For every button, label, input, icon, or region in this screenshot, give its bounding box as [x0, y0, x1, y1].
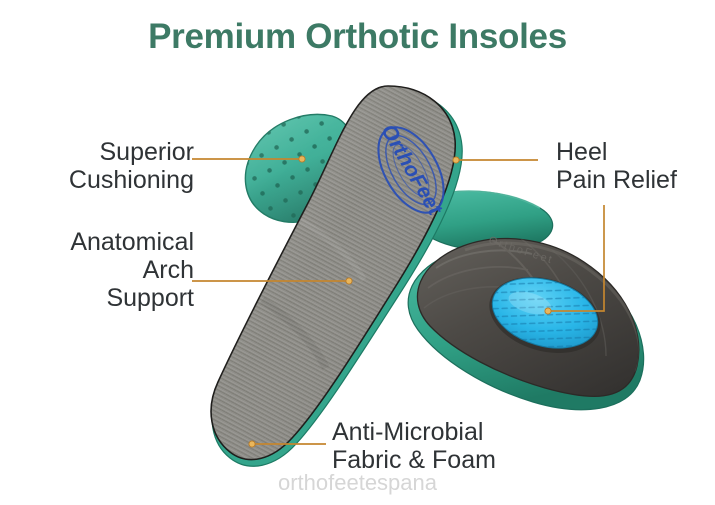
product-feature-image: OrthoFeet	[0, 0, 715, 505]
label-superior-cushioning: Superior Cushioning	[69, 138, 194, 194]
page-title: Premium Orthotic Insoles	[0, 18, 715, 57]
watermark: orthofeetespana	[0, 470, 715, 496]
label-anatomical-arch-support: Anatomical Arch Support	[70, 228, 194, 312]
label-heel-pain-relief: Heel Pain Relief	[556, 138, 677, 194]
label-anti-microbial-fabric-foam: Anti-Microbial Fabric & Foam	[332, 418, 496, 474]
